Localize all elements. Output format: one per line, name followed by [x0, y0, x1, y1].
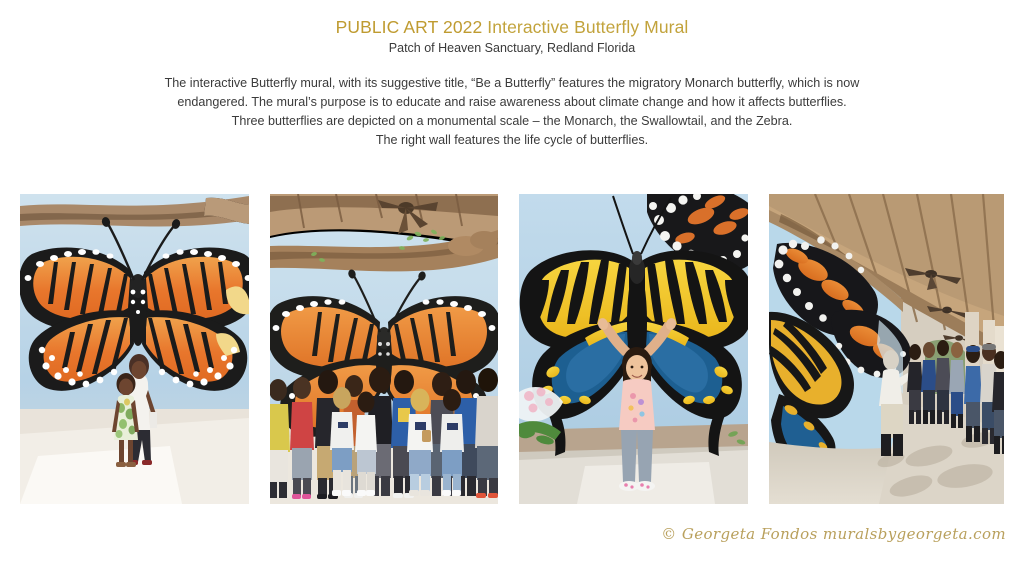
- page-subtitle: Patch of Heaven Sanctuary, Redland Flori…: [0, 39, 1024, 57]
- gallery-photo-monarch-student-group: [270, 194, 498, 504]
- slide-canvas: PUBLIC ART 2022 Interactive Butterfly Mu…: [0, 0, 1024, 561]
- page-title: PUBLIC ART 2022 Interactive Butterfly Mu…: [0, 16, 1024, 38]
- gallery-photo-monarch-two-kids: [20, 194, 249, 504]
- swallowtail-girl-illustration: [519, 194, 748, 504]
- gallery-photo-walkway-visitors: [769, 194, 1004, 504]
- description-block: The interactive Butterfly mural, with it…: [0, 74, 1024, 150]
- description-line-3: Three butterflies are depicted on a monu…: [0, 112, 1024, 131]
- walkway-visitors-illustration: [769, 194, 1004, 504]
- student-group-back-row: [270, 367, 498, 499]
- title-rest: Interactive Butterfly Mural: [482, 17, 688, 37]
- photo-gallery: [0, 194, 1024, 504]
- description-line-2: endangered. The mural’s purpose is to ed…: [0, 93, 1024, 112]
- description-line-4: The right wall features the life cycle o…: [0, 131, 1024, 150]
- gallery-photo-swallowtail-girl: [519, 194, 748, 504]
- title-highlight: PUBLIC ART 2022: [336, 17, 483, 37]
- monarch-two-kids-illustration: [20, 194, 249, 504]
- monarch-student-group-illustration: [270, 194, 498, 504]
- header: PUBLIC ART 2022 Interactive Butterfly Mu…: [0, 16, 1024, 57]
- artist-signature: © Georgeta Fondos muralsbygeorgeta.com: [661, 525, 1006, 543]
- description-line-1: The interactive Butterfly mural, with it…: [0, 74, 1024, 93]
